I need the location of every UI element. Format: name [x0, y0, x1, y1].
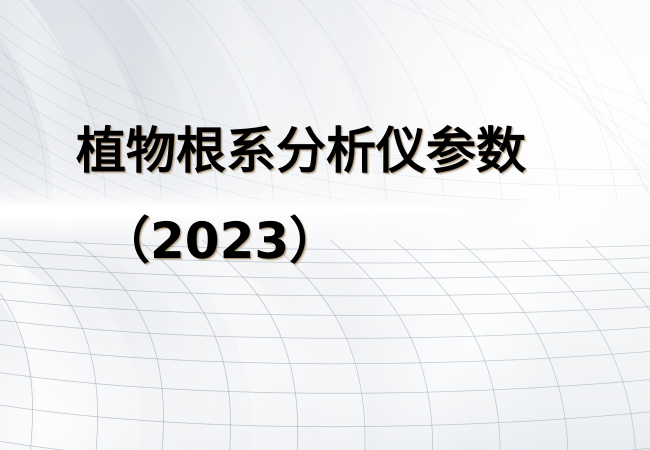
title-slide: 植物根系分析仪参数 （2023） [0, 0, 650, 450]
slide-background [0, 0, 650, 450]
